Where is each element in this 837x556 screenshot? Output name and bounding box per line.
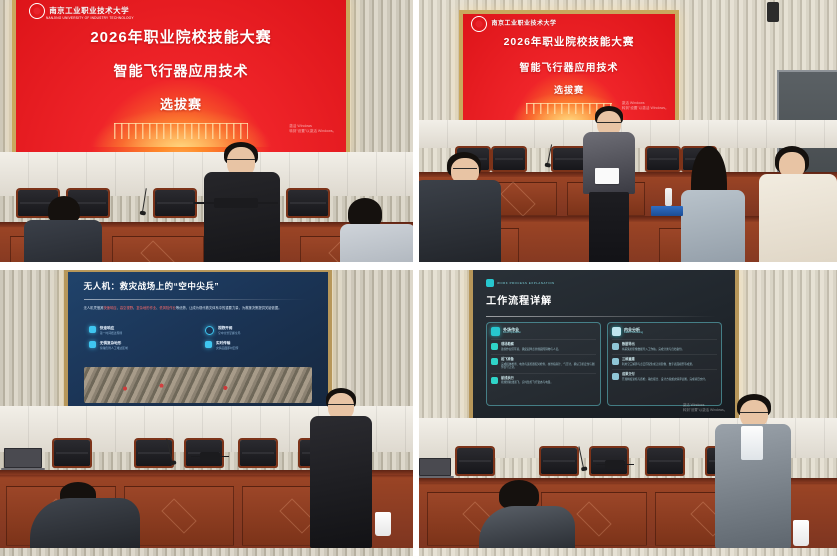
chair: [647, 148, 679, 170]
person-seated-far-right: [759, 146, 837, 262]
windows-watermark: 激活 Windows 转到"设置"以激活 Windows。: [289, 124, 336, 134]
workflow-item: 航线执行 按规划航线巡飞，实时监控飞行姿态与电量。: [491, 373, 596, 385]
blue-folder: [651, 206, 683, 216]
slide-eyebrow-row: WORK PROCESS EXPLANATION: [486, 279, 555, 287]
column-title-en: Data Processing: [624, 332, 643, 335]
chair: [54, 440, 90, 466]
column-title-cn: 外场作业 Field Operation: [503, 328, 521, 336]
eye-circle-icon: [205, 326, 214, 335]
laptop: [4, 448, 42, 468]
torso-jacket: [310, 416, 372, 548]
person-audience: [479, 480, 575, 548]
feature-item: 快速响应 第一时间抵达现场: [89, 326, 191, 335]
highlight-1: 快速响应: [103, 306, 116, 310]
drone-on-desk: [200, 452, 220, 461]
person-seated-left: [24, 196, 102, 262]
torso: [419, 180, 501, 262]
photo-bottom-left: 无人机：救灾战场上的“空中尖兵” 无人机凭借其快速响应、高空视野、复杂地形作业、…: [0, 270, 413, 556]
torso: [681, 190, 745, 262]
workflow-item: 起飞准备 完成机体检查、电池与遥控器配对检查，校准指南针、气压计，确认卫星定位与…: [491, 354, 596, 370]
chair: [240, 440, 276, 466]
person-presenter: [196, 142, 288, 262]
desk-panel: [124, 486, 234, 546]
glasses-icon: [453, 168, 477, 171]
feature-sub: 第一时间抵达现场: [100, 332, 122, 335]
university-name-en: NANJING UNIVERSITY OF INDUSTRY TECHNOLOG…: [46, 16, 134, 20]
column-title-en: Field Operation: [503, 332, 521, 335]
slide-feature-grid: 快速响应 第一时间抵达现场 视野开阔 空中全景掌握全局 无惧复杂地形 穿越危: [89, 326, 307, 350]
banner-line-1: 2026年职业院校技能大赛: [16, 26, 346, 47]
projection-screen-frame: WORK PROCESS EXPLANATION 工作流程详解 外场作业 Fie…: [469, 270, 739, 422]
column-header: 内业分析 Data Processing: [612, 327, 717, 336]
photo-top-left: 南京工业职业技术大学 NANJING UNIVERSITY OF INDUSTR…: [0, 0, 413, 262]
person-seated-far-left: [419, 152, 505, 262]
photo-top-right: 南京工业职业技术大学 2026年职业院校技能大赛 智能飞行器应用技术 选拔赛 激…: [419, 0, 837, 262]
presentation-slide-disaster-relief: 无人机：救灾战场上的“空中尖兵” 无人机凭借其快速响应、高空视野、复杂地形作业、…: [68, 272, 328, 408]
projection-screen-frame: 无人机：救灾战场上的“空中尖兵” 无人机凭借其快速响应、高空视野、复杂地形作业、…: [64, 270, 332, 412]
feature-item: 视野开阔 空中全景掌握全局: [205, 326, 307, 335]
banner-frame: 南京工业职业技术大学 NANJING UNIVERSITY OF INDUSTR…: [12, 0, 350, 156]
feature-title: 实时传输 灾情画面即时回传: [216, 341, 238, 350]
banner-line-1: 2026年职业院校技能大赛: [463, 34, 675, 49]
glasses-icon: [740, 412, 768, 415]
step-title: 数据导出 将采集的影像数据导入工作站，完成分类与归档备份。: [622, 343, 684, 351]
laptop: [419, 458, 451, 476]
feature-sub: 空中全景掌握全局: [218, 332, 240, 335]
step-title: 现场勘察 勘察作业区环境，确定起降点并规避障碍物与人员。: [501, 343, 561, 351]
paper-sheet: [595, 168, 619, 184]
torso-coat: [759, 174, 837, 262]
step-number-badge: [612, 343, 619, 350]
chart-chip-icon: [612, 327, 621, 336]
step-number-badge: [491, 343, 498, 350]
competition-banner: 南京工业职业技术大学 2026年职业院校技能大赛 智能飞行器应用技术 选拔赛 激…: [463, 14, 675, 124]
shirt-collar: [741, 426, 763, 460]
step-number-badge: [612, 373, 619, 380]
feature-title: 快速响应 第一时间抵达现场: [100, 326, 122, 335]
torso-vest: [583, 132, 635, 194]
disaster-aerial-photo: [84, 367, 313, 402]
ceiling-speaker: [767, 2, 779, 22]
desk-panel: [112, 236, 204, 262]
broadcast-icon: [205, 341, 212, 348]
glasses-icon: [597, 122, 621, 125]
feature-title: 视野开阔 空中全景掌握全局: [218, 326, 240, 335]
mountain-icon: [89, 341, 96, 348]
feature-title: 无惧复杂地形 穿越危险人工难达区域: [100, 341, 128, 350]
chair: [541, 448, 577, 474]
badge-icon: [486, 279, 494, 287]
banner-line-2: 智能飞行器应用技术: [16, 61, 346, 81]
feature-sub: 穿越危险人工难达区域: [100, 347, 128, 350]
step-desc: 开展精度复核与质检，输出报告、设计方案或灾情评估图，完成项目交付。: [622, 378, 708, 381]
university-seal-icon: [29, 3, 45, 19]
university-seal-icon: [471, 16, 487, 32]
title-underline: [84, 299, 308, 300]
photo-collage: 南京工业职业技术大学 NANJING UNIVERSITY OF INDUSTR…: [0, 0, 837, 556]
step-number-badge: [612, 358, 619, 365]
person-presenter: [715, 394, 793, 548]
step-number-badge: [491, 358, 498, 365]
title-underline: [486, 316, 717, 317]
step-title: 航线执行 按规划航线巡飞，实时监控飞行姿态与电量。: [501, 377, 553, 385]
chair: [155, 190, 195, 216]
photo-bottom-right: WORK PROCESS EXPLANATION 工作流程详解 外场作业 Fie…: [419, 270, 837, 556]
drone-chip-icon: [491, 327, 500, 336]
legs: [589, 192, 629, 262]
torso: [340, 224, 413, 262]
slide-title: 工作流程详解: [486, 292, 552, 307]
person-seated-right: [681, 146, 747, 262]
university-name-cn: 南京工业职业技术大学: [49, 7, 129, 15]
slide-title: 无人机：救灾战场上的“空中尖兵”: [84, 280, 220, 292]
step-desc: 利用空三解算与点云匹配生成正射影像、数字表面模型等成果。: [622, 363, 695, 366]
workflow-column-office: 内业分析 Data Processing 数据导出 将采集的影像数据导入工作站，…: [607, 322, 722, 406]
chair: [647, 448, 683, 474]
step-title: 成果交付 开展精度复核与质检，输出报告、设计方案或灾情评估图，完成项目交付。: [622, 373, 708, 381]
water-bottle: [665, 188, 672, 206]
step-desc: 完成机体检查、电池与遥控器配对检查，校准指南针、气压计，确认卫星定位与图传信号正…: [501, 363, 596, 370]
university-logo: 南京工业职业技术大学: [471, 16, 556, 32]
step-title: 起飞准备 完成机体检查、电池与遥控器配对检查，校准指南针、气压计，确认卫星定位与…: [501, 358, 596, 370]
feature-item: 实时传输 灾情画面即时回传: [205, 341, 307, 350]
workflow-column-field: 外场作业 Field Operation 现场勘察 勘察作业区环境，确定起降点并…: [486, 322, 601, 406]
slide-paragraph: 无人机凭借其快速响应、高空视野、复杂地形作业、低风险作业等优势，让成为现代救灾体…: [84, 306, 308, 311]
column-header: 外场作业 Field Operation: [491, 327, 596, 336]
feature-sub: 灾情画面即时回传: [216, 347, 238, 350]
highlight-4: 低风险作业: [159, 306, 175, 310]
glasses-icon: [227, 159, 255, 162]
workflow-item: 成果交付 开展精度复核与质检，输出报告、设计方案或灾情评估图，完成项目交付。: [612, 369, 717, 381]
chair: [457, 448, 493, 474]
paper-cup: [793, 520, 809, 546]
glasses-icon: [328, 404, 354, 407]
banner-frame: 南京工业职业技术大学 2026年职业院校技能大赛 智能飞行器应用技术 选拔赛 激…: [459, 10, 679, 128]
university-name-cn: 南京工业职业技术大学: [491, 21, 556, 27]
step-desc: 勘察作业区环境，确定起降点并规避障碍物与人员。: [501, 348, 561, 351]
torso: [30, 498, 140, 548]
step-desc: 按规划航线巡飞，实时监控飞行姿态与电量。: [501, 381, 553, 384]
competition-banner: 南京工业职业技术大学 NANJING UNIVERSITY OF INDUSTR…: [16, 0, 346, 152]
banner-line-2: 智能飞行器应用技术: [463, 59, 675, 74]
workflow-item: 三维重建 利用空三解算与点云匹配生成正射影像、数字表面模型等成果。: [612, 354, 717, 366]
drone: [214, 198, 258, 208]
person-presenter: [310, 388, 374, 548]
column-title-cn: 内业分析 Data Processing: [624, 328, 643, 336]
paper-cup: [375, 512, 391, 536]
step-number-badge: [491, 377, 498, 384]
workflow-columns: 外场作业 Field Operation 现场勘察 勘察作业区环境，确定起降点并…: [486, 322, 722, 406]
workflow-item: 现场勘察 勘察作业区环境，确定起降点并规避障碍物与人员。: [491, 339, 596, 351]
torso: [24, 220, 102, 262]
person-seated-right: [340, 198, 413, 262]
torso: [479, 506, 575, 548]
highlight-2: 高空视野: [120, 306, 133, 310]
feature-item: 无惧复杂地形 穿越危险人工难达区域: [89, 341, 191, 350]
slide-eyebrow: WORK PROCESS EXPLANATION: [497, 281, 555, 285]
torso-jacket: [204, 172, 280, 262]
highlight-3: 复杂地形作业: [136, 306, 156, 310]
person-presenter: [579, 106, 639, 262]
person-audience: [30, 482, 140, 548]
chair: [288, 190, 328, 216]
presentation-slide-workflow: WORK PROCESS EXPLANATION 工作流程详解 外场作业 Fie…: [473, 270, 735, 418]
step-desc: 将采集的影像数据导入工作站，完成分类与归档备份。: [622, 348, 684, 351]
workflow-item: 数据导出 将采集的影像数据导入工作站，完成分类与归档备份。: [612, 339, 717, 351]
drone-on-desk: [605, 460, 625, 469]
lightning-icon: [89, 326, 96, 333]
step-title: 三维重建 利用空三解算与点云匹配生成正射影像、数字表面模型等成果。: [622, 358, 695, 366]
